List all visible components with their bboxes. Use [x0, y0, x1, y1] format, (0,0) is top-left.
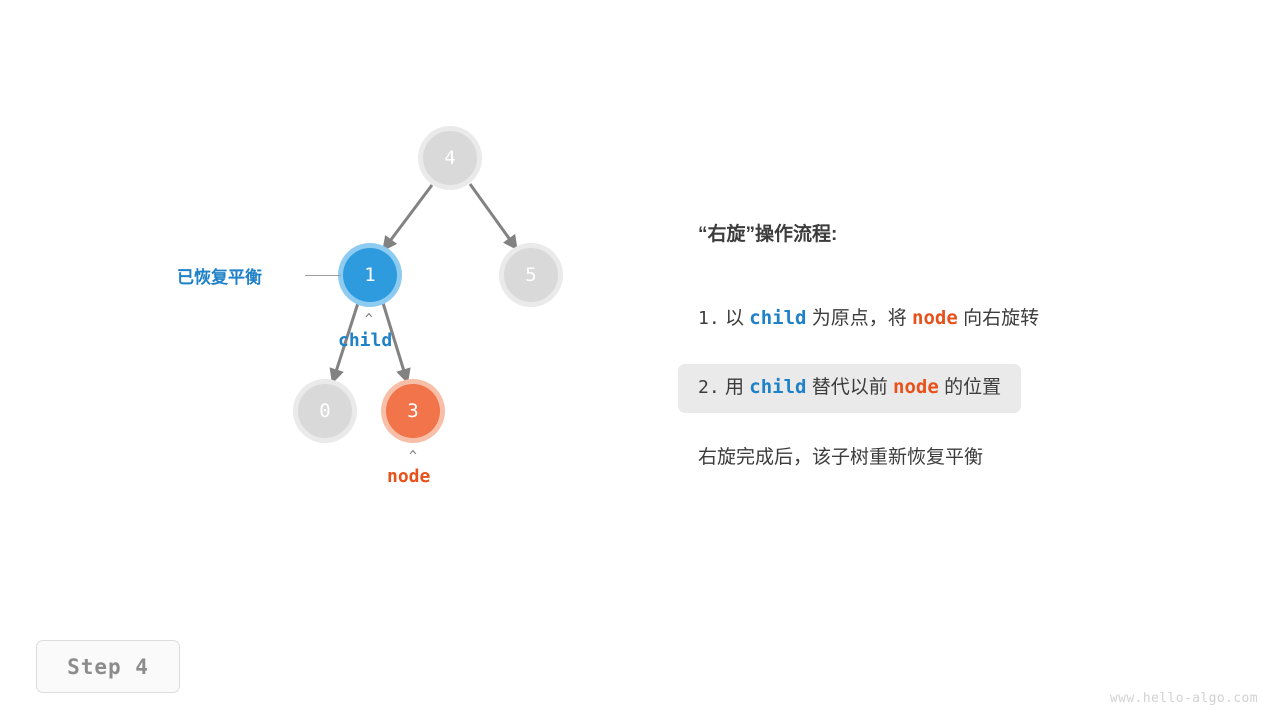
tree-node-1-value: 1	[364, 266, 375, 285]
child-pointer-caret-icon: ^	[365, 313, 373, 326]
step-1-line: 1. 以 child 为原点，将 node 向右旋转	[698, 304, 1039, 334]
edge-4-5	[470, 184, 516, 248]
step-2-text-2: 替代以前	[812, 377, 888, 398]
explanation-panel: “右旋”操作流程: 1. 以 child 为原点，将 node 向右旋转 2. …	[698, 222, 1218, 249]
step-2-line: 2. 用 child 替代以前 node 的位置	[698, 373, 1001, 403]
node-pointer-caret-icon: ^	[409, 450, 417, 463]
step-2-number: 2.	[698, 377, 720, 398]
edge-4-1	[384, 185, 432, 249]
tree-node-3[interactable]: 3	[386, 384, 440, 438]
conclusion-line: 右旋完成后，该子树重新恢复平衡	[698, 444, 983, 473]
step-1-number: 1.	[698, 308, 720, 329]
step-2-text-1: 用	[725, 377, 744, 398]
tree-edges-svg	[0, 0, 660, 720]
tree-node-5-value: 5	[525, 266, 536, 285]
watermark: www.hello-algo.com	[1110, 691, 1258, 706]
balanced-annotation-label: 已恢复平衡	[177, 263, 262, 288]
tree-node-0-value: 0	[319, 402, 330, 421]
tree-node-1[interactable]: 1	[343, 248, 397, 302]
tree-node-0[interactable]: 0	[298, 384, 352, 438]
child-pointer-label: child	[338, 330, 392, 351]
tree-node-5[interactable]: 5	[504, 248, 558, 302]
step-1-text-2: 为原点，将	[812, 308, 907, 329]
step-1-code-child: child	[749, 307, 806, 329]
balanced-annotation-connector	[305, 275, 341, 276]
watermark-text: www.hello-algo.com	[1110, 691, 1258, 706]
panel-title: “右旋”操作流程:	[698, 222, 1218, 249]
step-badge-label: Step 4	[67, 655, 149, 679]
step-2-code-child: child	[749, 376, 806, 398]
step-1-text-1: 以	[725, 308, 744, 329]
step-2-highlight-box: 2. 用 child 替代以前 node 的位置	[678, 364, 1021, 413]
tree-node-4-value: 4	[444, 149, 455, 168]
tree-node-3-value: 3	[407, 402, 418, 421]
step-2-text-3: 的位置	[944, 377, 1001, 398]
tree-diagram: 4 1 5 0 3 ^ child ^ node 已恢复平衡	[0, 0, 660, 720]
step-badge: Step 4	[36, 640, 180, 693]
step-1-text-3: 向右旋转	[963, 308, 1039, 329]
node-pointer-label: node	[387, 466, 430, 487]
step-1-code-node: node	[912, 307, 958, 329]
tree-node-4[interactable]: 4	[423, 131, 477, 185]
step-2-code-node: node	[893, 376, 939, 398]
